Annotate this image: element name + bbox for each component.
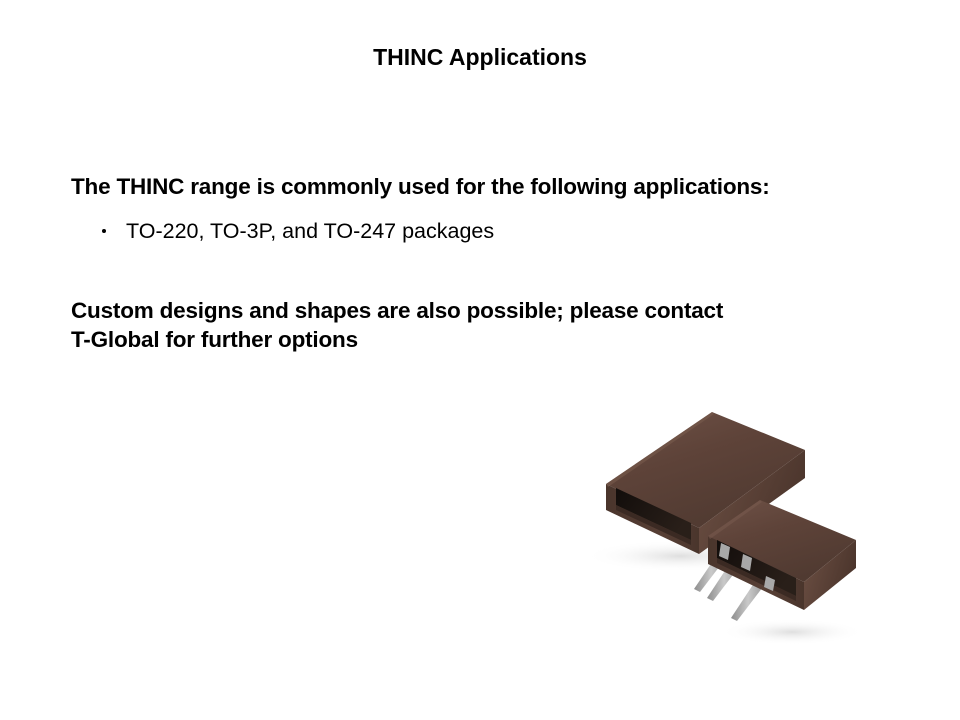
slide-canvas: THINC Applications The THINC range is co… (0, 0, 960, 720)
lead-paragraph: The THINC range is commonly used for the… (71, 173, 951, 201)
product-photo (560, 388, 910, 678)
thinc-packages-illustration (560, 388, 910, 678)
page-title: THINC Applications (0, 43, 960, 71)
list-item-label: TO-220, TO-3P, and TO-247 packages (126, 219, 494, 243)
closing-paragraph-line-2: T-Global for further options (71, 325, 951, 354)
list-item: TO-220, TO-3P, and TO-247 packages (100, 217, 494, 245)
small-package-shadow (720, 619, 864, 645)
applications-bullet-list: TO-220, TO-3P, and TO-247 packages (100, 217, 494, 245)
closing-paragraph: Custom designs and shapes are also possi… (71, 296, 951, 354)
bullet-dot-icon (102, 229, 106, 233)
closing-paragraph-line-1: Custom designs and shapes are also possi… (71, 296, 951, 325)
